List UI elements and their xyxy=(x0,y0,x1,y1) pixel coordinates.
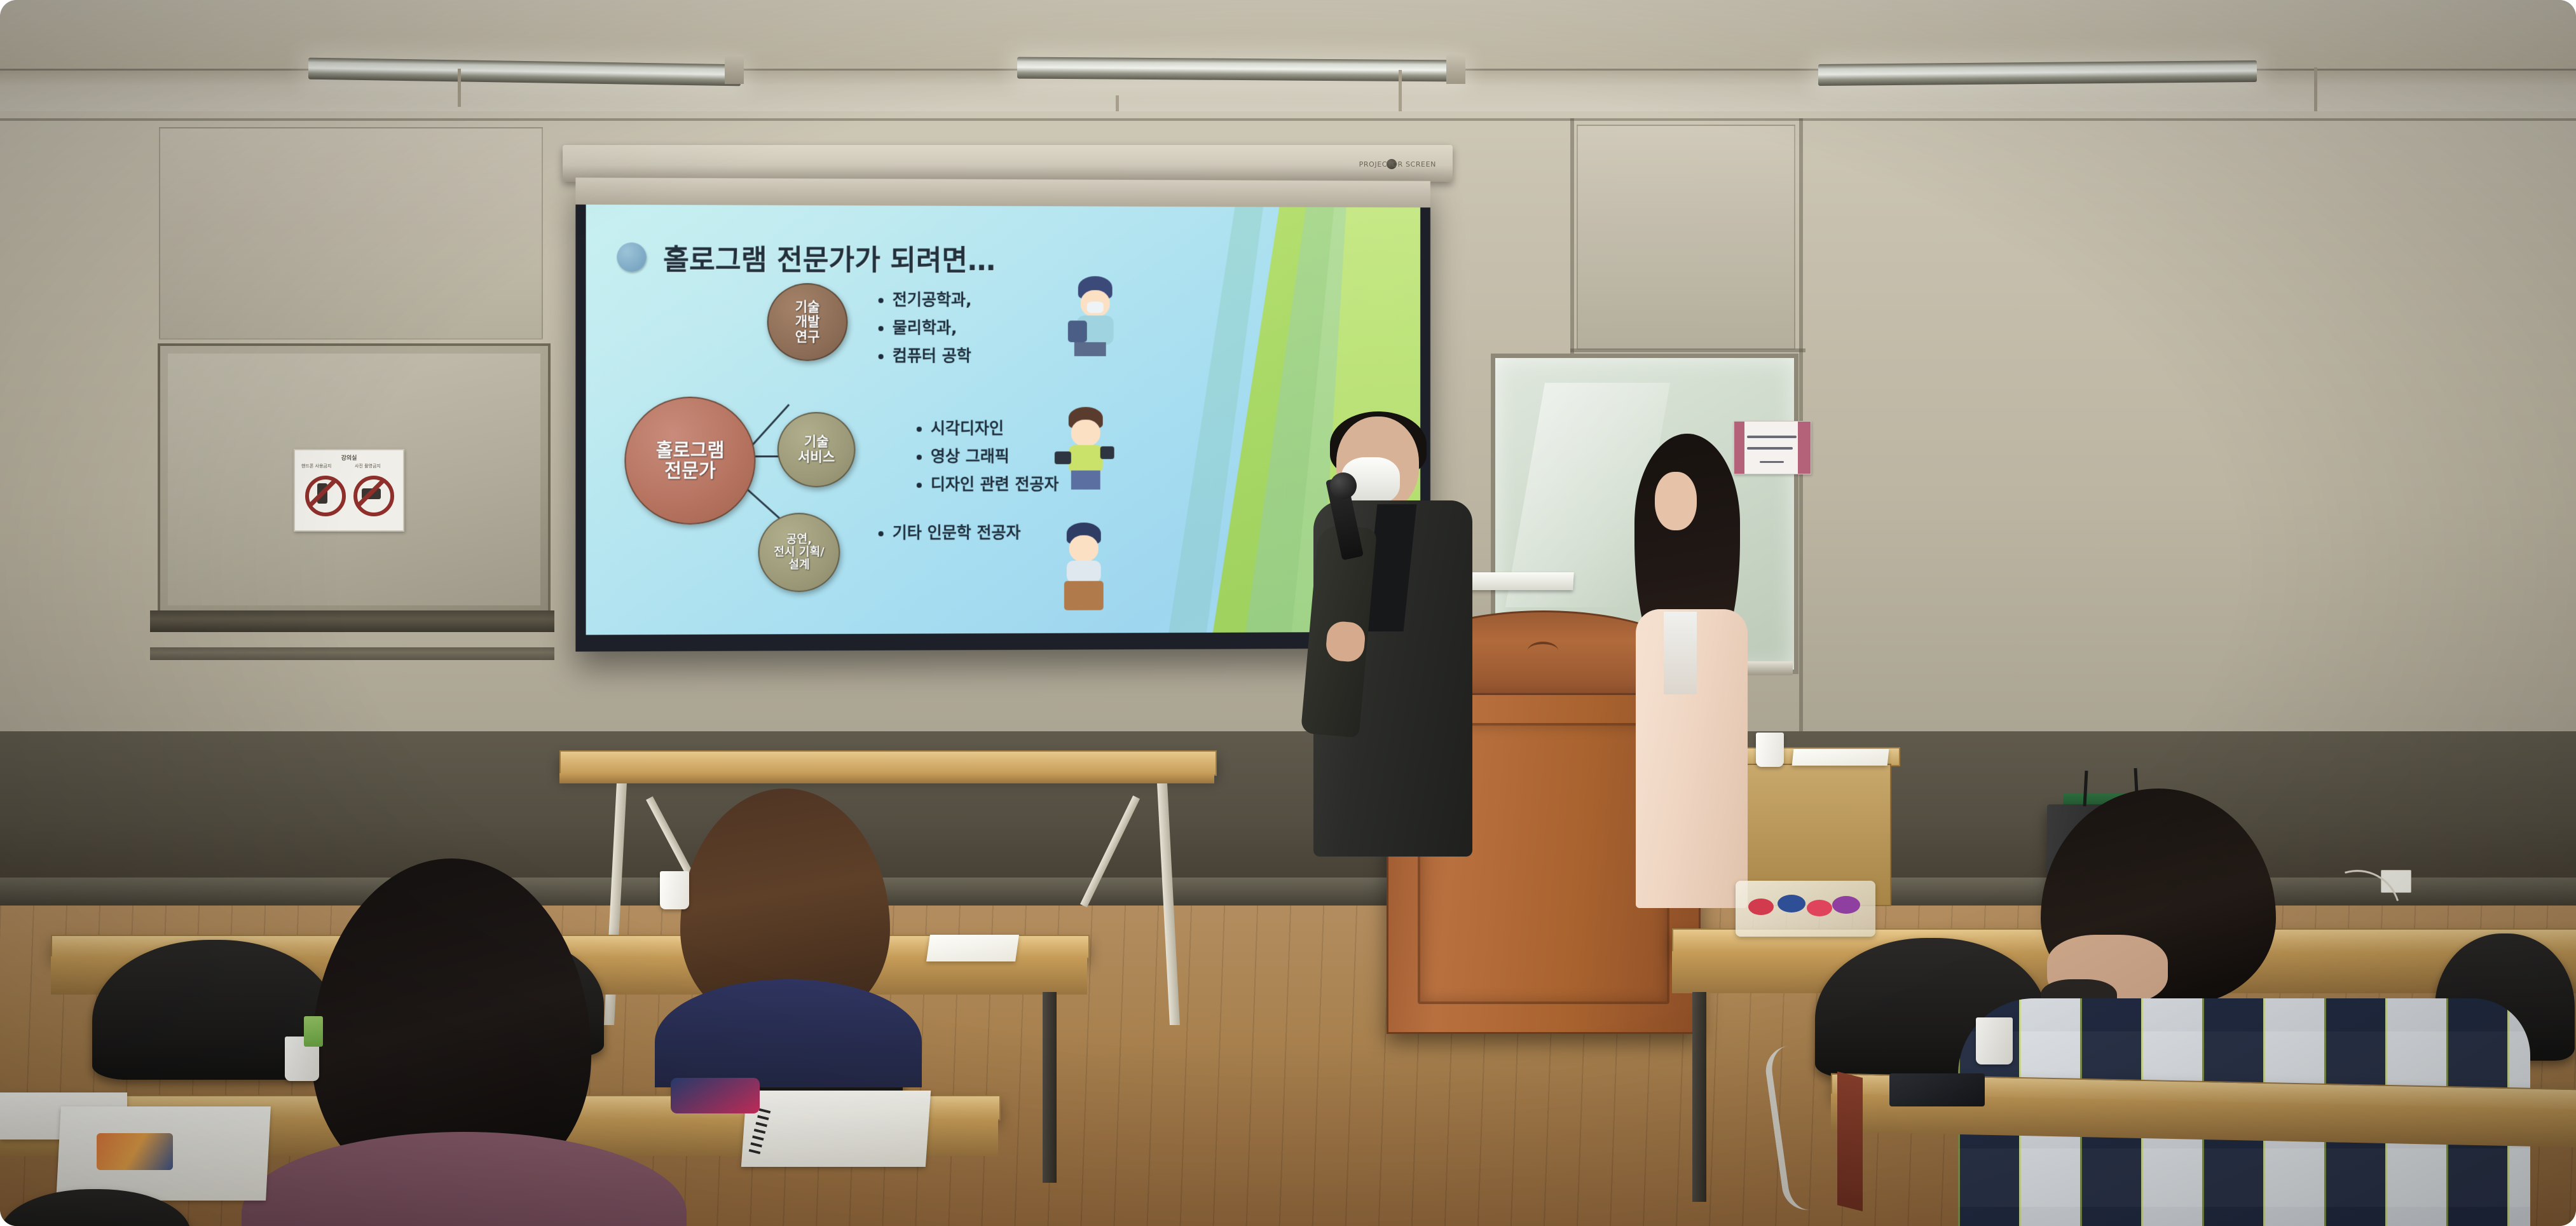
node-tech-service-line2: 서비스 xyxy=(798,450,835,465)
wall-panel-left xyxy=(159,127,543,340)
projector-screen-housing: PROJECTOR SCREEN xyxy=(563,145,1453,182)
prohibition-sign-right-caption: 사진 촬영금지 xyxy=(355,463,381,469)
lecture-room-photo: 강의실 핸드폰 사용금지 사진 촬영금지 PROJECTOR SCREEN xyxy=(0,0,2576,1226)
ceiling-wire-1 xyxy=(458,69,461,107)
tablet-device xyxy=(1889,1073,1985,1106)
audience-member-second-row xyxy=(655,789,909,1056)
wall-panel-right xyxy=(1577,125,1795,350)
screen-housing-label: PROJECTOR SCREEN xyxy=(1359,160,1436,169)
audience-table-leg-1 xyxy=(1043,992,1057,1183)
node-tech-research-line2: 개발 xyxy=(795,315,820,330)
presentation-slide: 홀로그램 전문가가 되려면… 컴퓨터 공학 홀로그램전문가 기술 개발 연구 기… xyxy=(586,205,1421,635)
node-tech-research-line1: 기술 xyxy=(795,300,820,315)
bullet-item: 기타 인문학 전공자 xyxy=(893,520,1045,543)
node-exhibition-planning: 공연, 전시 기획/ 설계 xyxy=(758,513,840,592)
audience-table-right-leg xyxy=(1692,992,1706,1202)
bullet-item: 컴퓨터 공학 xyxy=(893,343,1035,366)
wall-seam-right-vert xyxy=(1570,118,1574,354)
bullet-group-exhibition: 기타 인문학 전공자 xyxy=(876,520,1045,549)
left-board-ledge xyxy=(150,610,554,632)
handout-second-row xyxy=(926,935,1019,961)
node-exhibition-line1: 공연, xyxy=(786,533,812,546)
bullet-group-tech-research: 전기공학과, 물리학과, 컴퓨터 공학 xyxy=(876,287,1035,371)
ceiling-wire-3 xyxy=(2314,67,2317,117)
audience-shoulders xyxy=(242,1132,687,1226)
node-tech-research-line3: 연구 xyxy=(795,329,820,345)
pencil-case xyxy=(671,1078,760,1113)
male-presenter xyxy=(1310,417,1475,963)
supply-bag xyxy=(1736,881,1875,937)
node-exhibition-line2: 전시 기획/ xyxy=(774,546,825,559)
no-phone-icon xyxy=(305,476,346,516)
ceiling-wire-2 xyxy=(1399,70,1402,112)
prohibition-sign: 강의실 핸드폰 사용금지 사진 촬영금지 xyxy=(294,449,404,532)
node-tech-research: 기술 개발 연구 xyxy=(767,283,848,361)
paper-cup-second-row xyxy=(660,871,689,909)
audience-member-front-right xyxy=(1958,789,2505,1226)
node-exhibition-line3: 설계 xyxy=(788,559,809,572)
handout-illustration xyxy=(97,1133,173,1170)
connector-center-to-node2 xyxy=(751,455,779,457)
paper-cup-front-right xyxy=(1976,1017,2013,1064)
female-presenter-face xyxy=(1655,472,1697,530)
male-presenter-hand xyxy=(1325,620,1366,663)
node-tech-service-line1: 기술 xyxy=(804,435,829,450)
light-end-cap-2 xyxy=(1446,55,1465,84)
wall-seam-top xyxy=(0,118,2576,121)
screen-top-bar xyxy=(575,177,1430,207)
folding-table-top xyxy=(559,750,1217,776)
female-presenter-blouse xyxy=(1664,612,1697,694)
prohibition-sign-title: 강의실 xyxy=(295,453,403,462)
bullet-group-tech-service: 시각디자인 영상 그래픽 디자인 관련 전공자 xyxy=(914,416,1076,500)
bullet-item: 시각디자인 xyxy=(931,416,1076,439)
side-desk-papers xyxy=(1792,749,1889,766)
ceiling-light-2 xyxy=(1017,57,1462,82)
bullet-dot-icon xyxy=(617,242,647,272)
slide-title: 홀로그램 전문가가 되려면… xyxy=(663,237,996,279)
light-end-cap-1 xyxy=(725,55,744,84)
projection-screen: 홀로그램 전문가가 되려면… 컴퓨터 공학 홀로그램전문가 기술 개발 연구 기… xyxy=(575,177,1430,651)
bullet-item: 전기공학과, xyxy=(893,287,1035,310)
bullet-item: 물리학과, xyxy=(893,315,1035,338)
node-tech-service: 기술 서비스 xyxy=(778,412,856,487)
snack-wrapper xyxy=(304,1016,323,1047)
left-board-ledge-2 xyxy=(150,647,554,660)
ceiling-light-3 xyxy=(1818,60,2257,86)
podium-crest xyxy=(1528,642,1558,659)
female-presenter xyxy=(1618,439,1764,909)
audience-shoulders xyxy=(655,979,922,1087)
notebook-front-left xyxy=(741,1091,931,1167)
prohibition-sign-left-caption: 핸드폰 사용금지 xyxy=(301,463,331,469)
slide-title-row: 홀로그램 전문가가 되려면… xyxy=(617,237,996,279)
no-photo-icon xyxy=(353,476,394,516)
node-center: 컴퓨터 공학 홀로그램전문가 xyxy=(624,397,755,525)
folding-table-edge xyxy=(559,773,1214,783)
bullet-item: 디자인 관련 전공자 xyxy=(931,472,1076,495)
